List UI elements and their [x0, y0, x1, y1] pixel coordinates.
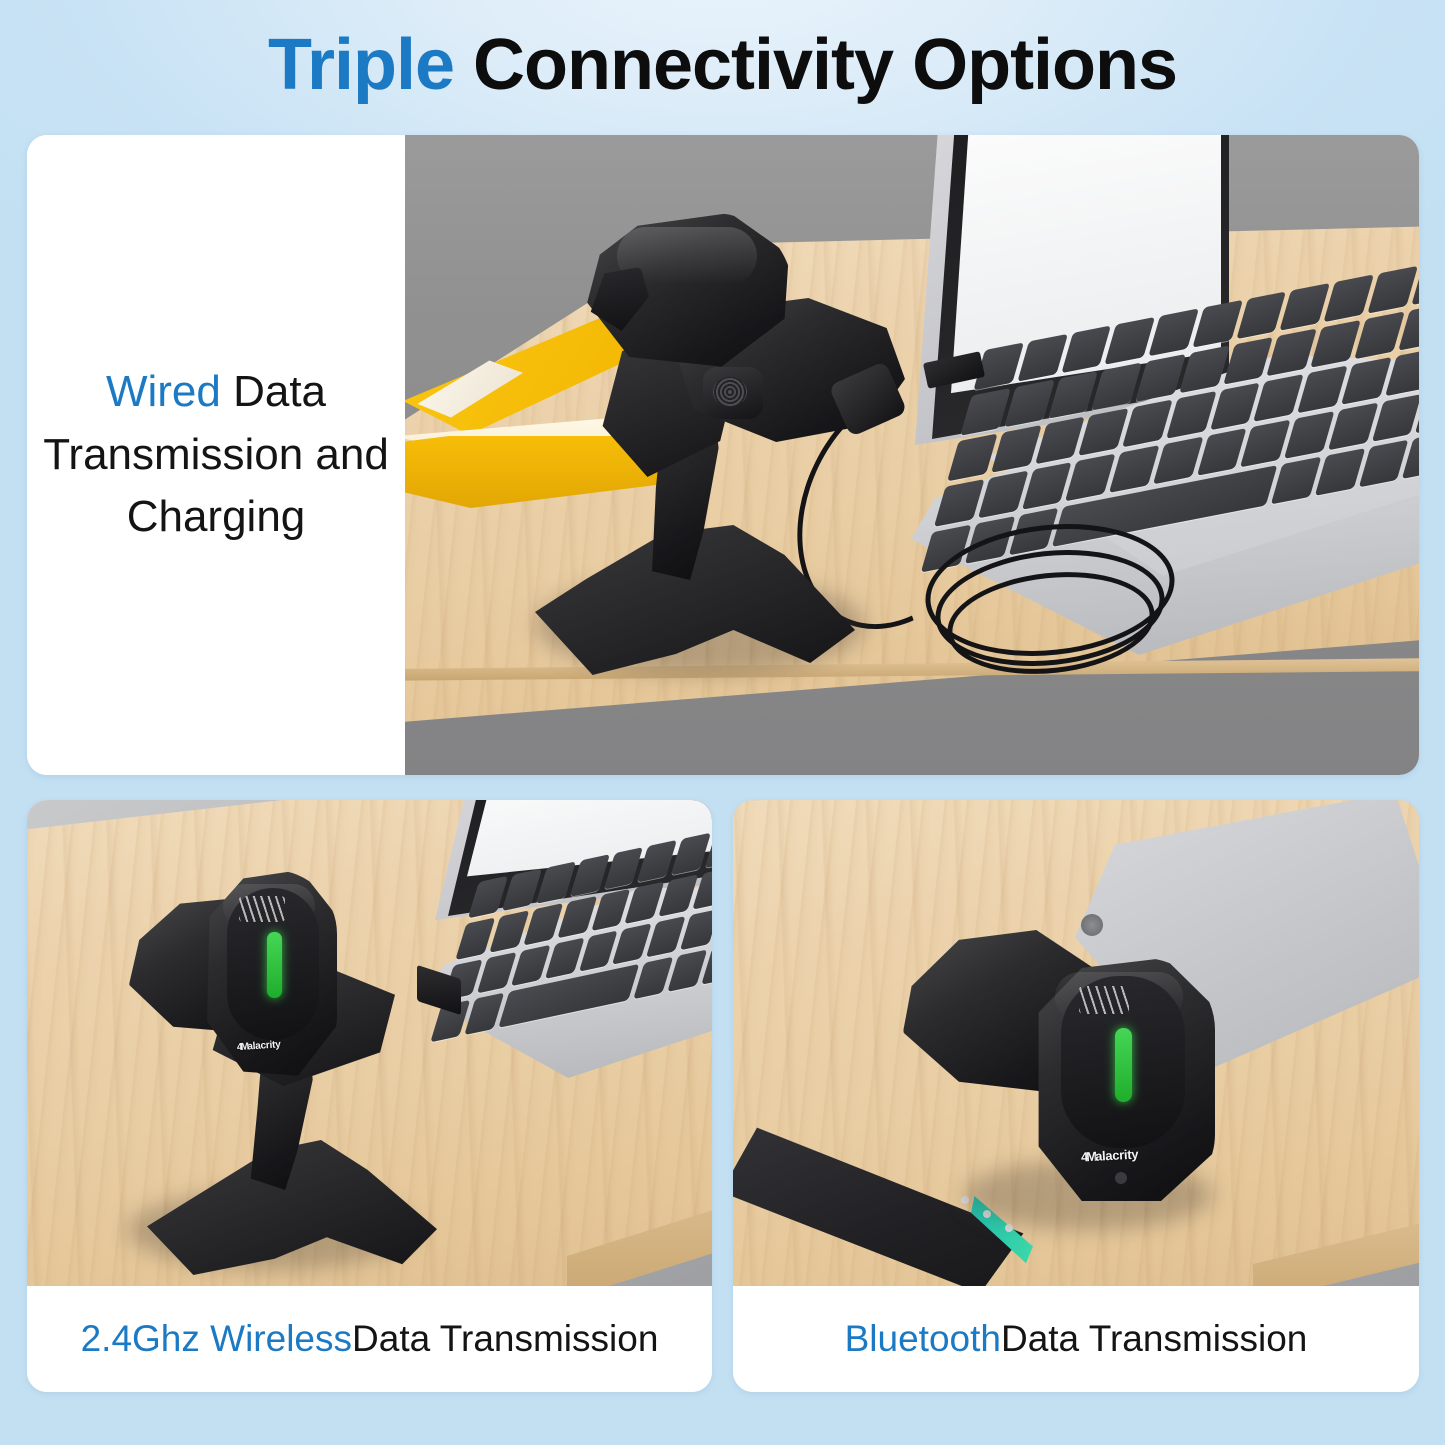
keyboard-key	[1148, 308, 1198, 356]
keyboard-key	[489, 910, 529, 952]
wired-label-line2: Transmission and	[43, 430, 389, 479]
wireless-photo: 4Malacrity	[27, 800, 712, 1286]
caption-bluetooth: Bluetooth Data Transmission	[733, 1286, 1419, 1392]
caption-wireless-rest: Data Transmission	[352, 1318, 658, 1360]
keyboard-key	[1367, 266, 1417, 314]
keyboard-key	[455, 917, 495, 959]
page-title: Triple Connectivity Options	[0, 24, 1445, 106]
wired-label-accent: Wired	[106, 367, 221, 416]
barcode-scanner-wireless: 4Malacrity	[87, 840, 447, 1280]
keyboard-key	[578, 930, 618, 972]
scanner-button	[1115, 1172, 1127, 1184]
keyboard-key	[1341, 357, 1391, 405]
keyboard-key	[1297, 366, 1347, 414]
caption-wireless: 2.4Ghz Wireless Data Transmission	[27, 1286, 712, 1392]
keyboard-key	[1223, 337, 1273, 385]
keyboard-key	[625, 881, 665, 923]
scanner-trigger-grip	[713, 377, 747, 407]
wired-label-line1: Data	[221, 367, 326, 416]
keyboard-key	[1280, 283, 1330, 331]
keyboard-key	[1266, 328, 1316, 376]
caption-wireless-accent: 2.4Ghz Wireless	[81, 1318, 352, 1360]
keyboard-key	[693, 867, 712, 909]
keyboard-key	[612, 923, 652, 965]
keyboard-key	[1398, 303, 1419, 351]
panel-wired: Wired Data Transmission and Charging	[27, 135, 1419, 775]
keyboard-key	[1385, 349, 1419, 397]
keyboard-key	[591, 888, 631, 930]
page-title-rest: Connectivity Options	[454, 25, 1177, 105]
keyboard-key	[1328, 403, 1378, 451]
signal-icon	[239, 896, 285, 922]
keyboard-key	[570, 854, 610, 896]
barcode-scanner-bluetooth: 4Malacrity	[903, 900, 1253, 1240]
keyboard-key	[1210, 383, 1260, 431]
keyboard-key	[536, 861, 576, 903]
keyboard-key	[1284, 411, 1334, 459]
page-title-accent: Triple	[268, 25, 454, 105]
keyboard-key	[604, 847, 644, 889]
wired-text-block: Wired Data Transmission and Charging	[27, 135, 405, 775]
keyboard-key	[1192, 300, 1242, 348]
keyboard-key	[1240, 420, 1290, 468]
caption-bluetooth-rest: Data Transmission	[1001, 1318, 1307, 1360]
panel-bluetooth: 4Malacrity Bluetooth Data Transmission	[733, 800, 1419, 1392]
panel-wireless: 4Malacrity 2.4Ghz Wireless Data Transmis…	[27, 800, 712, 1392]
keyboard-key	[1354, 311, 1404, 359]
keyboard-key	[1236, 291, 1286, 339]
bluetooth-photo: 4Malacrity	[733, 800, 1419, 1286]
keyboard-key	[646, 915, 686, 957]
brand-logo-text: alacrity	[247, 1039, 281, 1052]
keyboard-key	[637, 840, 677, 882]
brand-logo-text: alacrity	[1095, 1147, 1139, 1164]
keyboard-key	[1402, 431, 1419, 479]
keyboard-key	[477, 952, 517, 994]
caption-bluetooth-accent: Bluetooth	[845, 1318, 1001, 1360]
keyboard-key	[671, 833, 711, 875]
keyboard-key	[511, 944, 551, 986]
keyboard-key	[545, 937, 585, 979]
keyboard-key	[680, 908, 712, 950]
keyboard-key	[659, 874, 699, 916]
keyboard-key	[1105, 317, 1155, 365]
keyboard-key	[1371, 394, 1419, 442]
keyboard-key	[557, 896, 597, 938]
keyboard-key	[1253, 374, 1303, 422]
product-feature-graphic: Triple Connectivity Options Wired Data T…	[0, 0, 1445, 1445]
barcode-scanner-wired	[525, 175, 925, 695]
signal-icon	[1079, 986, 1129, 1014]
status-led-indicator	[267, 932, 282, 998]
keyboard-key	[523, 903, 563, 945]
status-led-indicator	[1115, 1028, 1132, 1102]
wired-photo	[405, 135, 1419, 775]
keyboard-key	[1323, 274, 1373, 322]
brand-logo: 4Malacrity	[1081, 1147, 1139, 1165]
keyboard-key	[1310, 320, 1360, 368]
wired-label-line3: Charging	[127, 492, 306, 541]
brand-logo-mark: 4M	[1081, 1149, 1096, 1165]
keyboard-key	[502, 869, 542, 911]
